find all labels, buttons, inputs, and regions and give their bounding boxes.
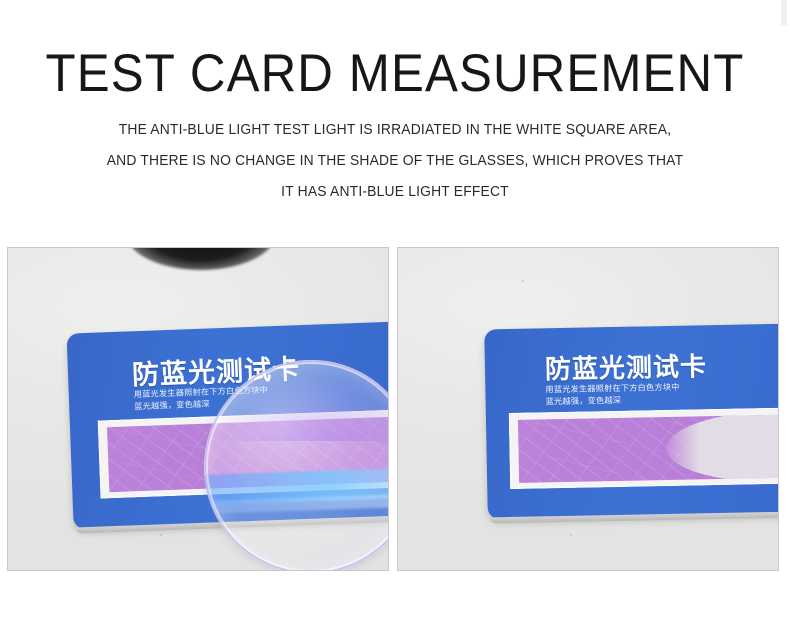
test-card: 防蓝光测试卡 用蓝光发生器照射在下方白色方块中 蓝光越强，变色越深 <box>484 323 779 520</box>
page-title: TEST CARD MEASUREMENT <box>28 0 763 103</box>
strip-frame <box>509 406 779 489</box>
desk-speck <box>522 280 524 282</box>
page-root: TEST CARD MEASUREMENT THE ANTI-BLUE LIGH… <box>0 0 790 625</box>
desk-speck <box>160 534 162 536</box>
card-subtitle-line-2: 蓝光越强，变色越深 <box>546 394 680 408</box>
subtitle-line-2: AND THERE IS NO CHANGE IN THE SHADE OF T… <box>20 154 771 169</box>
photo-panel-with-lens: 防蓝光测试卡 用蓝光发生器照射在下方白色方块中 蓝光越强，变色越深 <box>7 247 389 571</box>
photochromic-strip <box>518 413 779 482</box>
card-title: 防蓝光测试卡 <box>545 346 708 386</box>
header-block: TEST CARD MEASUREMENT THE ANTI-BLUE LIGH… <box>0 0 790 215</box>
photo-gallery: 防蓝光测试卡 用蓝光发生器照射在下方白色方块中 蓝光越强，变色越深 <box>7 247 783 571</box>
subtitle-line-1: THE ANTI-BLUE LIGHT TEST LIGHT IS IRRADI… <box>20 123 771 138</box>
subtitle-line-3: IT HAS ANTI-BLUE LIGHT EFFECT <box>20 185 771 200</box>
page-subtitle: THE ANTI-BLUE LIGHT TEST LIGHT IS IRRADI… <box>20 103 771 199</box>
photo-panel-card-only: 防蓝光测试卡 用蓝光发生器照射在下方白色方块中 蓝光越强，变色越深 <box>397 247 779 571</box>
desk-speck <box>570 534 572 536</box>
eyeglass-lens <box>204 360 389 571</box>
card-subtitle: 用蓝光发生器照射在下方白色方块中 蓝光越强，变色越深 <box>545 382 680 408</box>
